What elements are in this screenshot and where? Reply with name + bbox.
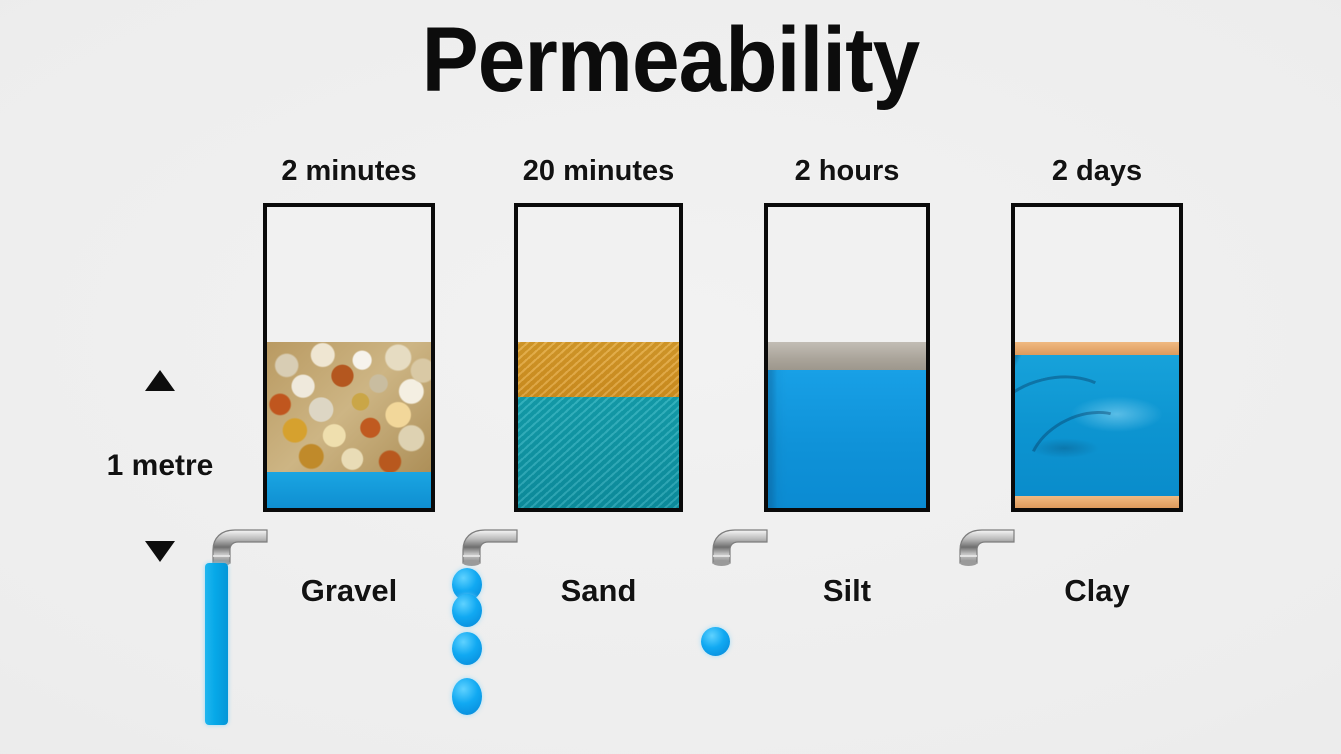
time-label-silt: 2 hours (764, 155, 930, 188)
page-title: Permeability (47, 14, 1294, 106)
tap-icon-silt[interactable] (705, 523, 769, 567)
layer-air-silt (768, 207, 926, 342)
triangle-up-icon (145, 370, 175, 391)
permeability-diagram: Permeability 1 metre 2 minutes Gravel (0, 0, 1341, 754)
layer-water-silt (768, 370, 926, 508)
soil-label-silt: Silt (744, 573, 950, 609)
layer-sand-dry (518, 342, 679, 396)
water-drop (452, 594, 482, 627)
layer-clay-base (1015, 496, 1179, 508)
layer-clay-top (1015, 342, 1179, 354)
container-sand (514, 203, 683, 512)
column-silt: 2 hours Silt (764, 155, 930, 575)
layer-air-clay (1015, 207, 1179, 342)
column-sand: 20 minutes Sand (514, 155, 683, 575)
container-gravel (263, 203, 435, 512)
soil-label-sand: Sand (494, 573, 703, 609)
water-drop (452, 678, 482, 715)
layer-gravel (267, 342, 431, 471)
time-label-clay: 2 days (1011, 155, 1183, 188)
time-label-sand: 20 minutes (514, 155, 683, 188)
layer-air-sand (518, 207, 679, 342)
layer-sand-saturated (518, 397, 679, 508)
scale-label: 1 metre (107, 449, 214, 483)
tap-icon-sand[interactable] (455, 523, 519, 567)
column-gravel: 2 minutes Gravel (263, 155, 435, 575)
water-stream-gravel (205, 563, 228, 725)
soil-label-gravel: Gravel (243, 573, 455, 609)
layer-air-gravel (267, 207, 431, 342)
tap-icon-clay[interactable] (952, 523, 1016, 567)
column-clay: 2 days Clay (1011, 155, 1183, 575)
water-drop (452, 632, 482, 665)
layer-water-clay (1015, 355, 1179, 496)
triangle-down-icon (145, 541, 175, 562)
soil-label-clay: Clay (991, 573, 1203, 609)
container-silt (764, 203, 930, 512)
time-label-gravel: 2 minutes (263, 155, 435, 188)
layer-water-gravel (267, 472, 431, 508)
layer-silt (768, 342, 926, 369)
container-clay (1011, 203, 1183, 512)
water-drop (701, 627, 730, 656)
tap-icon-gravel[interactable] (205, 523, 269, 567)
